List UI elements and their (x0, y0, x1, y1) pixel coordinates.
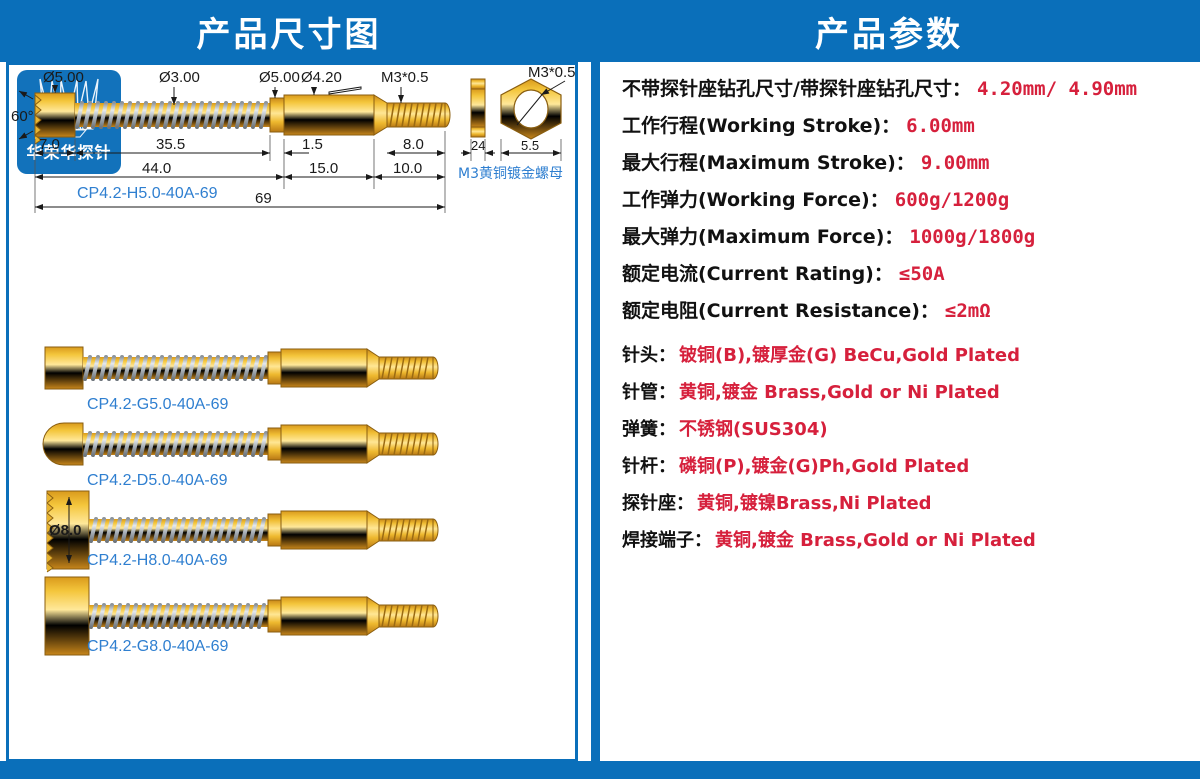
technical-drawing: 60° Ø5.00 Ø3.00 Ø5.00 Ø4.20 M3*0.5 (9, 65, 575, 759)
model-label-3: CP4.2-D5.0-40A-69 (87, 472, 228, 489)
model-label-2: CP4.2-G5.0-40A-69 (87, 396, 229, 413)
thread-label-main: M3*0.5 (381, 69, 429, 86)
spec-row: 最大行程(Maximum Stroke)： 9.00mm (622, 154, 1192, 173)
spec-value: 6.00mm (906, 117, 975, 136)
diameter-label-1: Ø5.00 (43, 69, 84, 86)
dim-g: 10.0 (393, 160, 422, 177)
nut-detail-views: M3*0.5 24 5.5 M3黄铜镀金螺母 (458, 65, 575, 182)
probe-main-assembly (35, 93, 450, 144)
material-row: 针管： 黄铜,镀金 Brass,Gold or Ni Plated (622, 384, 1192, 402)
spec-row: 工作行程(Working Stroke)： 6.00mm (622, 117, 1192, 136)
spec-label: 额定电流(Current Rating)： (622, 265, 893, 284)
material-value: 磷铜(P),镀金(G)Ph,Gold Plated (679, 458, 969, 476)
spec-value: ≤2mΩ (945, 302, 991, 321)
probe-taper (374, 95, 387, 135)
material-row: 弹簧： 不锈钢(SUS304) (622, 421, 1192, 439)
spec-value: 9.00mm (921, 154, 990, 173)
nut-thread-label: M3*0.5 (528, 65, 575, 81)
material-row: 探针座： 黄铜,镀镍Brass,Ni Plated (622, 495, 1192, 513)
probe-body (284, 95, 374, 135)
angle-label: 60° (11, 108, 34, 125)
dim-total: 69 (255, 190, 272, 207)
material-value: 黄铜,镀金 Brass,Gold or Ni Plated (715, 532, 1036, 550)
material-label: 探针座： (622, 495, 694, 513)
angle-annotation-60: 60° (11, 91, 34, 139)
spec-label: 工作行程(Working Stroke)： (622, 117, 900, 136)
nut-side-view (471, 79, 485, 137)
specification-list: 不带探针座钻孔尺寸/带探针座钻孔尺寸： 4.20mm/ 4.90mm 工作行程(… (622, 80, 1192, 569)
spec-label: 额定电阻(Current Resistance)： (622, 302, 939, 321)
spec-row: 最大弹力(Maximum Force)： 1000g/1800g (622, 228, 1192, 247)
spec-row: 工作弹力(Working Force)： 600g/1200g (622, 191, 1192, 210)
material-row: 针杆： 磷铜(P),镀金(G)Ph,Gold Plated (622, 458, 1192, 476)
model-label-1: CP4.2-H5.0-40A-69 (77, 185, 218, 202)
dim-c: 1.5 (302, 136, 323, 153)
diameter-label-4: Ø4.20 (301, 69, 342, 86)
material-value: 不锈钢(SUS304) (679, 421, 828, 439)
spec-value: 1000g/1800g (909, 228, 1035, 247)
header-banner-parameters: 产品参数 (578, 0, 1200, 62)
spec-label: 工作弹力(Working Force)： (622, 191, 889, 210)
probe-spring (75, 103, 271, 127)
nut-description-label: M3黄铜镀金螺母 (458, 165, 563, 182)
header-banner-dimensions: 产品尺寸图 (0, 0, 578, 62)
spec-label: 不带探针座钻孔尺寸/带探针座钻孔尺寸： (622, 80, 971, 99)
probe-collar (270, 98, 284, 132)
material-value: 黄铜,镀金 Brass,Gold or Ni Plated (679, 384, 1000, 402)
material-label: 弹簧： (622, 421, 676, 439)
material-label: 针管： (622, 384, 676, 402)
probe-thread-m3 (387, 103, 450, 127)
product-spec-sheet: 产品尺寸图 产品参数 PCBHRH 华荣华探针 (0, 0, 1200, 779)
variant-h8-diameter-label: Ø8.0 (49, 522, 82, 539)
material-row: 焊接端子： 黄铜,镀金 Brass,Gold or Ni Plated (622, 532, 1192, 550)
nut-flats-dim: 5.5 (521, 138, 539, 153)
spec-row: 不带探针座钻孔尺寸/带探针座钻孔尺寸： 4.20mm/ 4.90mm (622, 80, 1192, 99)
dimension-chain: 7.0 35.5 1.5 8.0 44.0 15.0 10.0 69 CP4.2… (35, 131, 445, 213)
parameters-title: 产品参数 (815, 7, 963, 56)
material-label: 针头： (622, 347, 676, 365)
probe-variant-g5: CP4.2-G5.0-40A-69 (45, 347, 438, 413)
model-label-5: CP4.2-G8.0-40A-69 (87, 638, 229, 655)
nut-width-dim: 24 (471, 138, 485, 153)
dimensions-panel: PCBHRH 华荣华探针 (6, 62, 578, 762)
dim-f: 15.0 (309, 160, 338, 177)
dim-b: 35.5 (156, 136, 185, 153)
probe-variant-h8: Ø8.0 CP4.2-H8.0-40A-69 (47, 491, 438, 572)
footer-bar (0, 761, 1200, 779)
material-label: 针杆： (622, 458, 676, 476)
diameter-label-3: Ø5.00 (259, 69, 300, 86)
model-label-4: CP4.2-H8.0-40A-69 (87, 552, 228, 569)
spec-row: 额定电流(Current Rating)： ≤50A (622, 265, 1192, 284)
material-label: 焊接端子： (622, 532, 712, 550)
dim-d: 8.0 (403, 136, 424, 153)
dim-e: 44.0 (142, 160, 171, 177)
probe-variant-d5: CP4.2-D5.0-40A-69 (43, 423, 438, 489)
material-value: 铍铜(B),镀厚金(G) BeCu,Gold Plated (679, 347, 1020, 365)
materials-list: 针头： 铍铜(B),镀厚金(G) BeCu,Gold Plated 针管： 黄铜… (622, 347, 1192, 550)
dim-a: 7.0 (39, 136, 60, 153)
material-value: 黄铜,镀镍Brass,Ni Plated (697, 495, 932, 513)
material-row: 针头： 铍铜(B),镀厚金(G) BeCu,Gold Plated (622, 347, 1192, 365)
dimensions-title: 产品尺寸图 (197, 7, 382, 56)
probe-variant-g8: CP4.2-G8.0-40A-69 (45, 577, 438, 655)
spec-value: ≤50A (899, 265, 945, 284)
nut-hex-view (501, 79, 561, 139)
spec-label: 最大弹力(Maximum Force)： (622, 228, 903, 247)
spec-row: 额定电阻(Current Resistance)： ≤2mΩ (622, 302, 1192, 321)
spec-value: 600g/1200g (895, 191, 1009, 210)
spec-label: 最大行程(Maximum Stroke)： (622, 154, 915, 173)
spec-value: 4.20mm/ 4.90mm (977, 80, 1137, 99)
diameter-label-2: Ø3.00 (159, 69, 200, 86)
parameters-panel: 不带探针座钻孔尺寸/带探针座钻孔尺寸： 4.20mm/ 4.90mm 工作行程(… (591, 62, 1195, 762)
